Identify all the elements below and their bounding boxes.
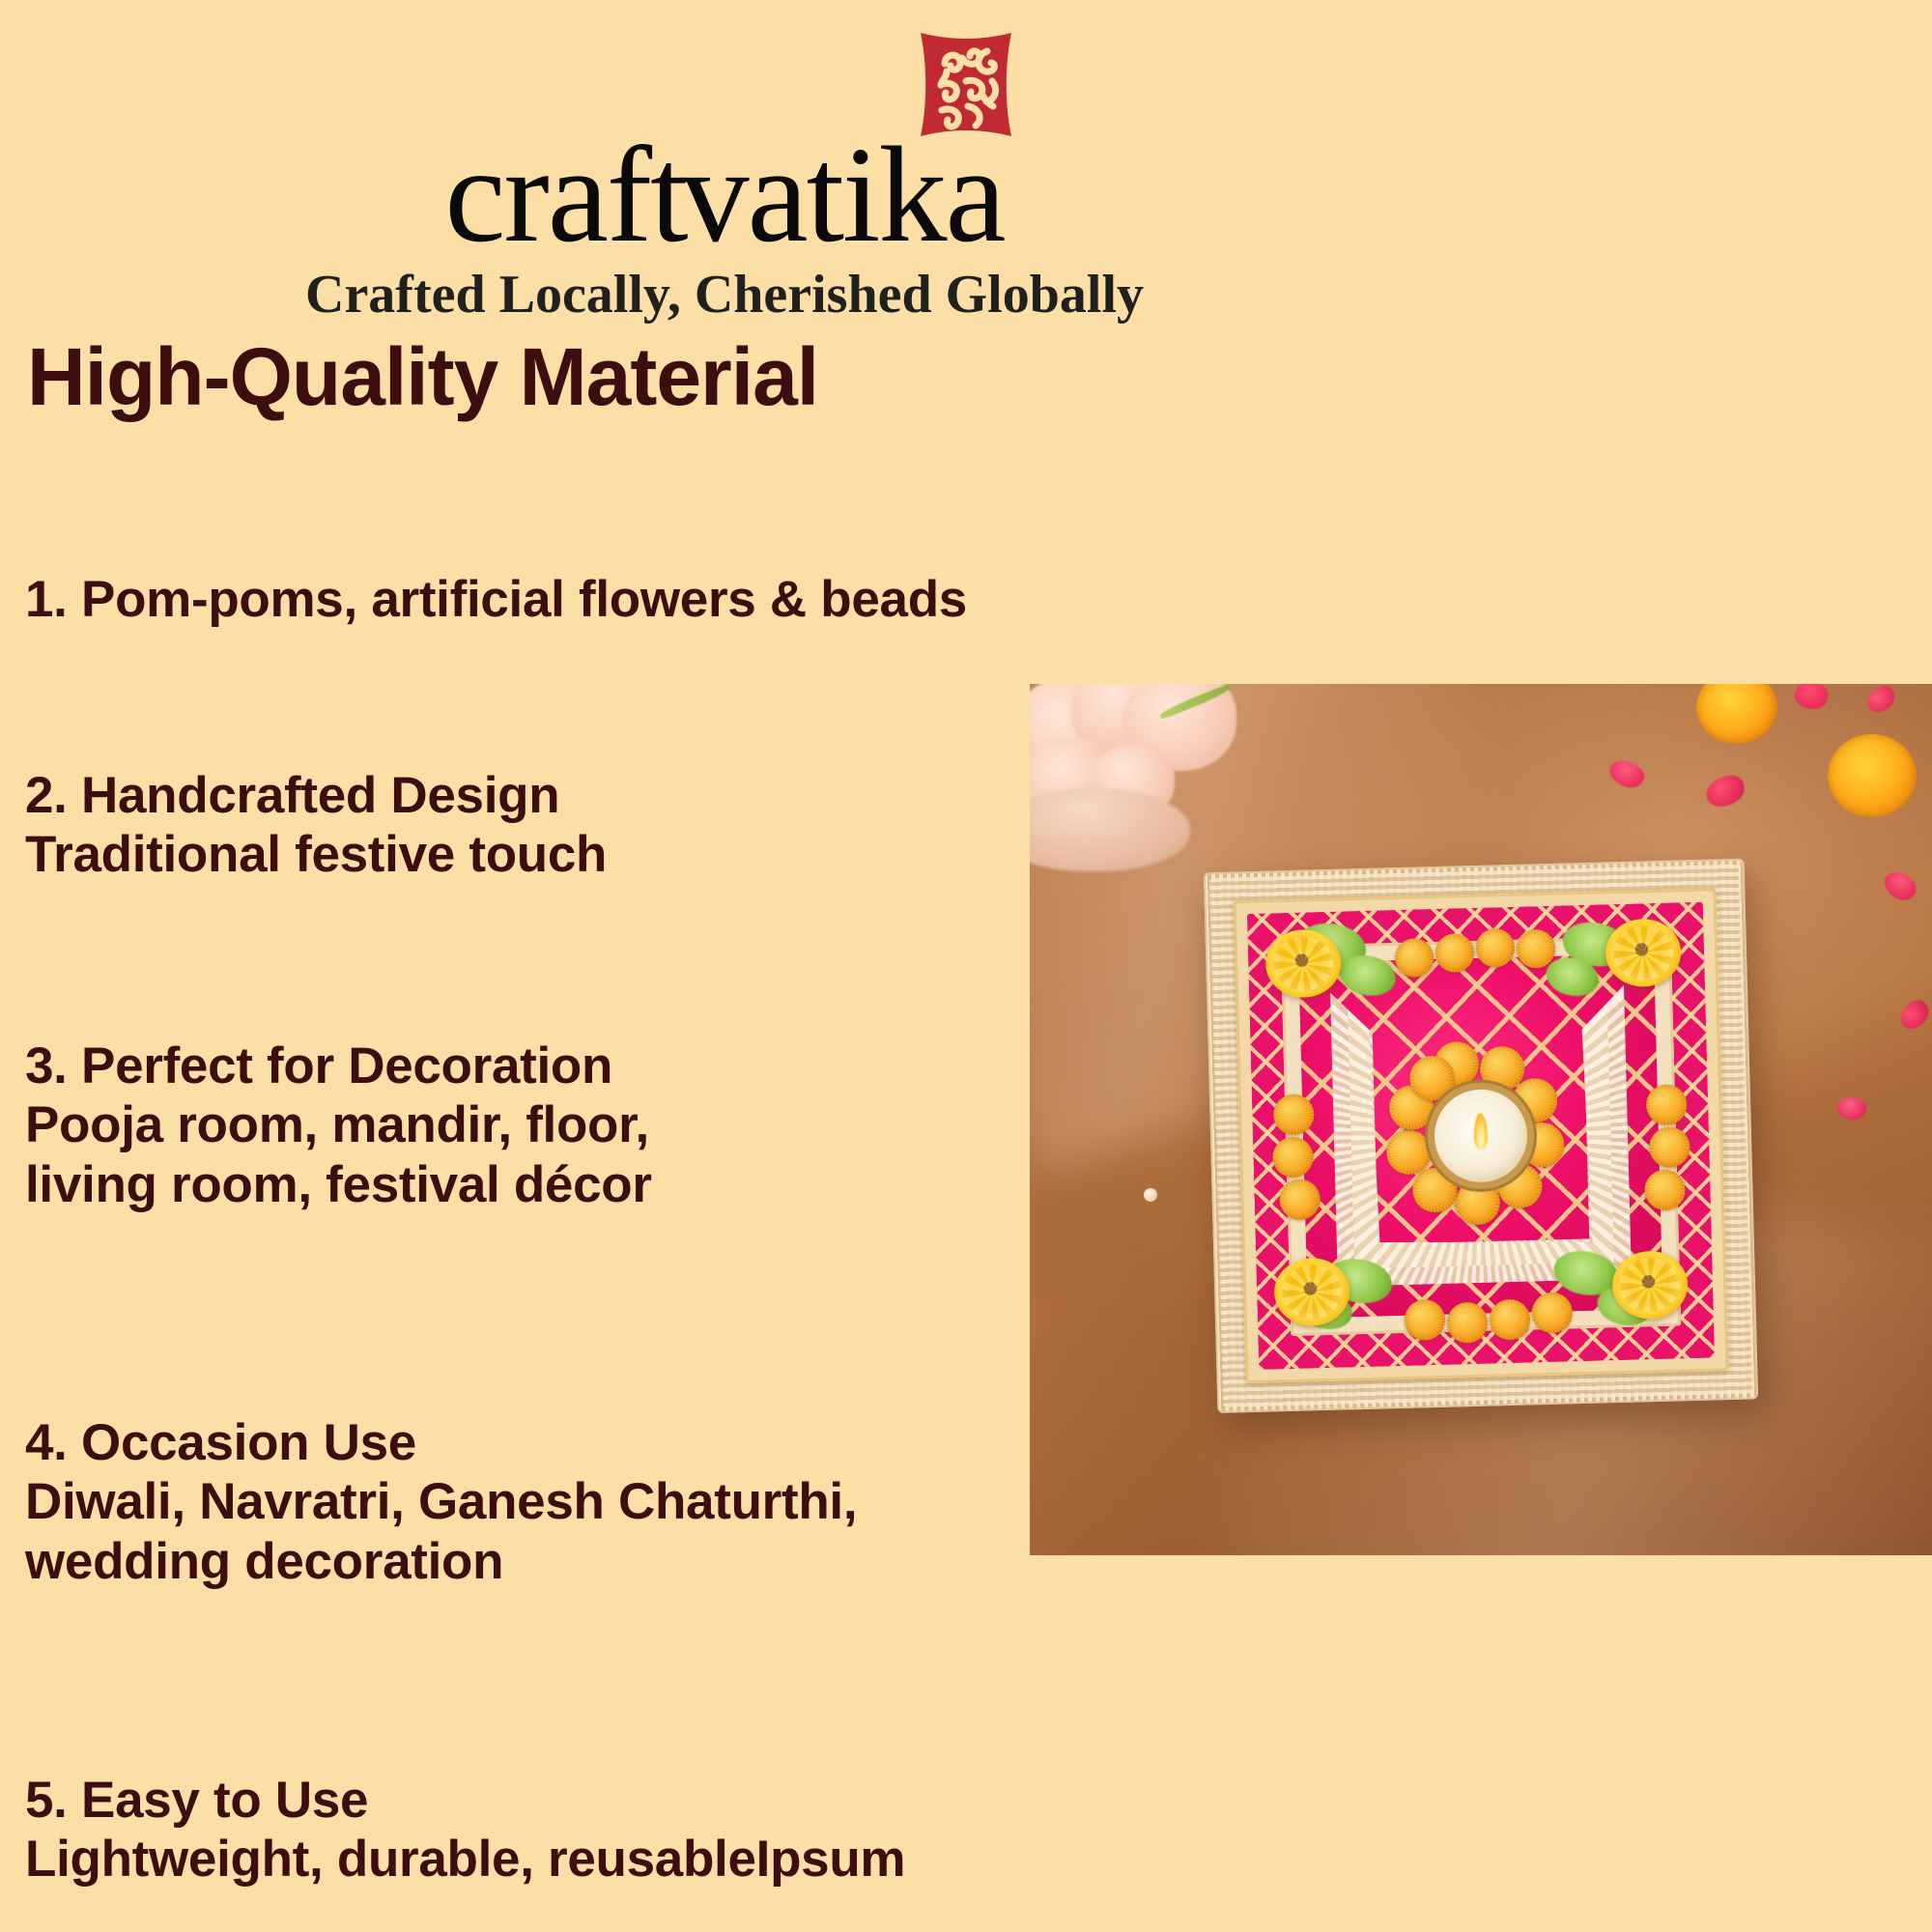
brand-wordmark: craftvatika xyxy=(0,131,1449,258)
decor-pearl-bead xyxy=(1144,1188,1157,1202)
craftvatika-emblem-icon xyxy=(912,25,1020,143)
product-photo xyxy=(1030,684,1932,1555)
list-item: 3. Perfect for Decoration Pooja room, ma… xyxy=(25,1037,652,1214)
feature-line: Pooja room, mandir, floor, xyxy=(25,1095,652,1154)
brand-tagline: Crafted Locally, Cherished Globally xyxy=(0,264,1449,326)
feature-title: 1. Pom-poms, artificial flowers & beads xyxy=(25,570,967,629)
list-item: 2. Handcrafted Design Traditional festiv… xyxy=(25,766,607,885)
list-item: 1. Pom-poms, artificial flowers & beads xyxy=(25,570,967,629)
brand-logo: craftvatika Crafted Locally, Cherished G… xyxy=(0,17,1449,326)
feature-title: 5. Easy to Use xyxy=(25,1771,905,1830)
list-item: 5. Easy to Use Lightweight, durable, reu… xyxy=(25,1771,905,1889)
feature-line: Lightweight, durable, reusableIpsum xyxy=(25,1830,905,1889)
feature-line: Traditional festive touch xyxy=(25,825,607,884)
feature-title: 4. Occasion Use xyxy=(25,1413,857,1472)
list-item: 4. Occasion Use Diwali, Navratri, Ganesh… xyxy=(25,1413,857,1591)
infographic-canvas: craftvatika Crafted Locally, Cherished G… xyxy=(0,0,1932,1932)
feature-line: Diwali, Navratri, Ganesh Chaturthi, xyxy=(25,1472,857,1531)
wordmark-craft: craft xyxy=(444,118,686,270)
feature-line: living room, festival décor xyxy=(25,1155,652,1214)
page-title: High-Quality Material xyxy=(27,336,818,417)
feature-title: 3. Perfect for Decoration xyxy=(25,1037,652,1095)
feature-line: wedding decoration xyxy=(25,1532,857,1591)
pooja-mat xyxy=(1204,859,1758,1413)
feature-title: 2. Handcrafted Design xyxy=(25,766,607,825)
decor-marigold xyxy=(1828,734,1917,817)
